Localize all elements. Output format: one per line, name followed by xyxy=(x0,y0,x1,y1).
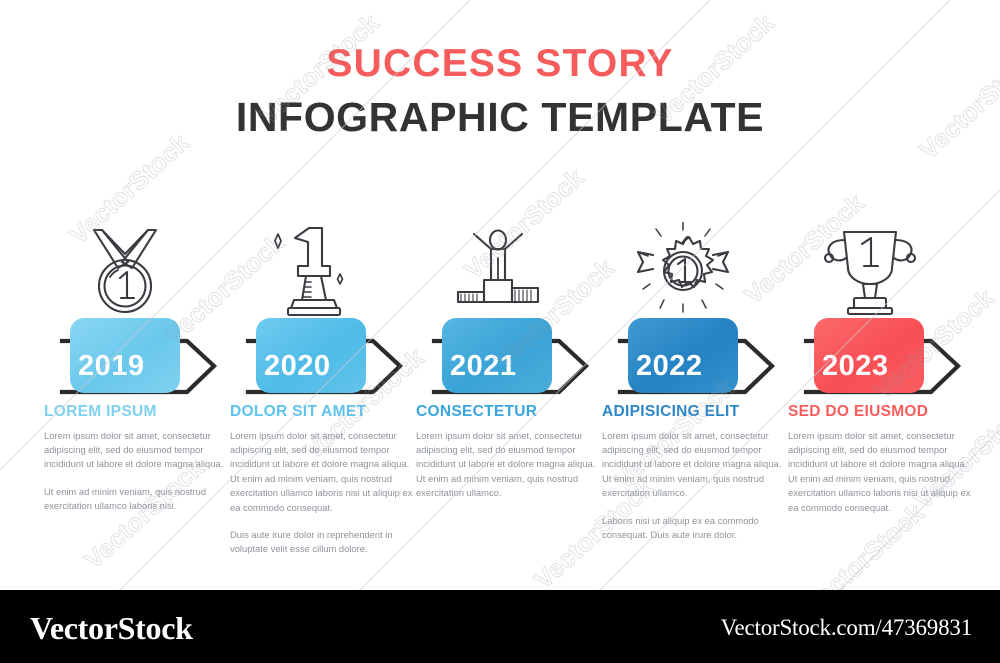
winner-podium-icon xyxy=(446,228,550,325)
year-label-2021: 2021 xyxy=(450,352,517,381)
vectorstock-logo: VectorStock xyxy=(30,610,193,647)
year-label-2020: 2020 xyxy=(264,352,331,381)
timeline-section: 2019 2020 2021 2022 2023 xyxy=(0,0,1000,590)
medal-icon xyxy=(72,224,178,325)
number-one-statue-icon xyxy=(262,222,362,325)
year-label-2023: 2023 xyxy=(822,352,889,381)
year-label-2019: 2019 xyxy=(78,352,145,381)
year-label-2022: 2022 xyxy=(636,352,703,381)
trophy-icon xyxy=(818,222,922,325)
vectorstock-footer-bar: VectorStock VectorStock.com/47369831 xyxy=(0,590,1000,663)
vectorstock-url: VectorStock.com/47369831 xyxy=(721,615,972,641)
rosette-badge-icon xyxy=(628,222,738,325)
